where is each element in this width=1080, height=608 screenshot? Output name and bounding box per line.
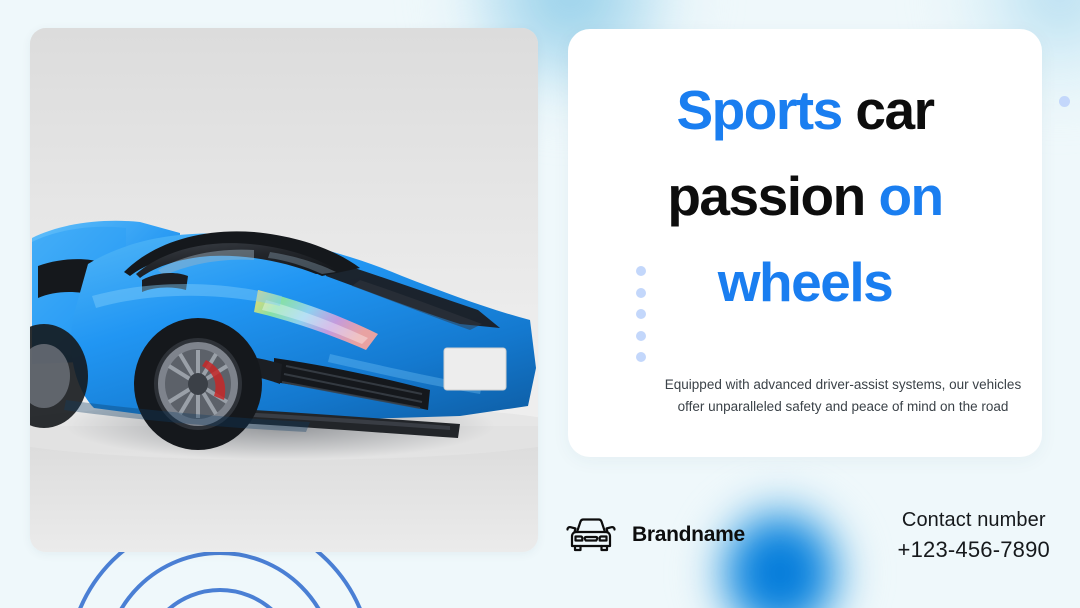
contact-label: Contact number [898,505,1050,535]
headline-word-car: car [842,79,934,141]
car-front-icon [563,514,619,556]
headline-word-passion: passion [667,165,864,227]
brand-lockup[interactable]: Brandname [563,514,745,556]
decorative-dot-right [1059,96,1070,107]
decorative-dot [636,331,646,341]
contact-block[interactable]: Contact number +123-456-7890 [898,505,1050,565]
headline-word-sports: Sports [676,79,841,141]
headline-line-2: passion on [592,153,1018,239]
car-photo-image [30,28,538,552]
decorative-dot [636,288,646,298]
headline-card: Sports car passion on wheels Equipped wi… [568,29,1042,457]
decorative-dot [636,266,646,276]
banner-stage: Sports car passion on wheels Equipped wi… [0,0,1080,608]
decorative-dot [636,309,646,319]
brand-name-label: Brandname [632,523,745,547]
headline-line-3: wheels [592,239,1018,325]
decorative-dot [636,352,646,362]
headline-line-1: Sports car [592,67,1018,153]
contact-number[interactable]: +123-456-7890 [898,535,1050,565]
car-photo-card [30,28,538,552]
headline-word-on: on [865,165,943,227]
body-description: Equipped with advanced driver-assist sys… [660,374,1026,418]
page-title: Sports car passion on wheels [592,67,1018,325]
headline-word-wheels: wheels [718,251,892,313]
dot-column-decoration [635,266,647,362]
